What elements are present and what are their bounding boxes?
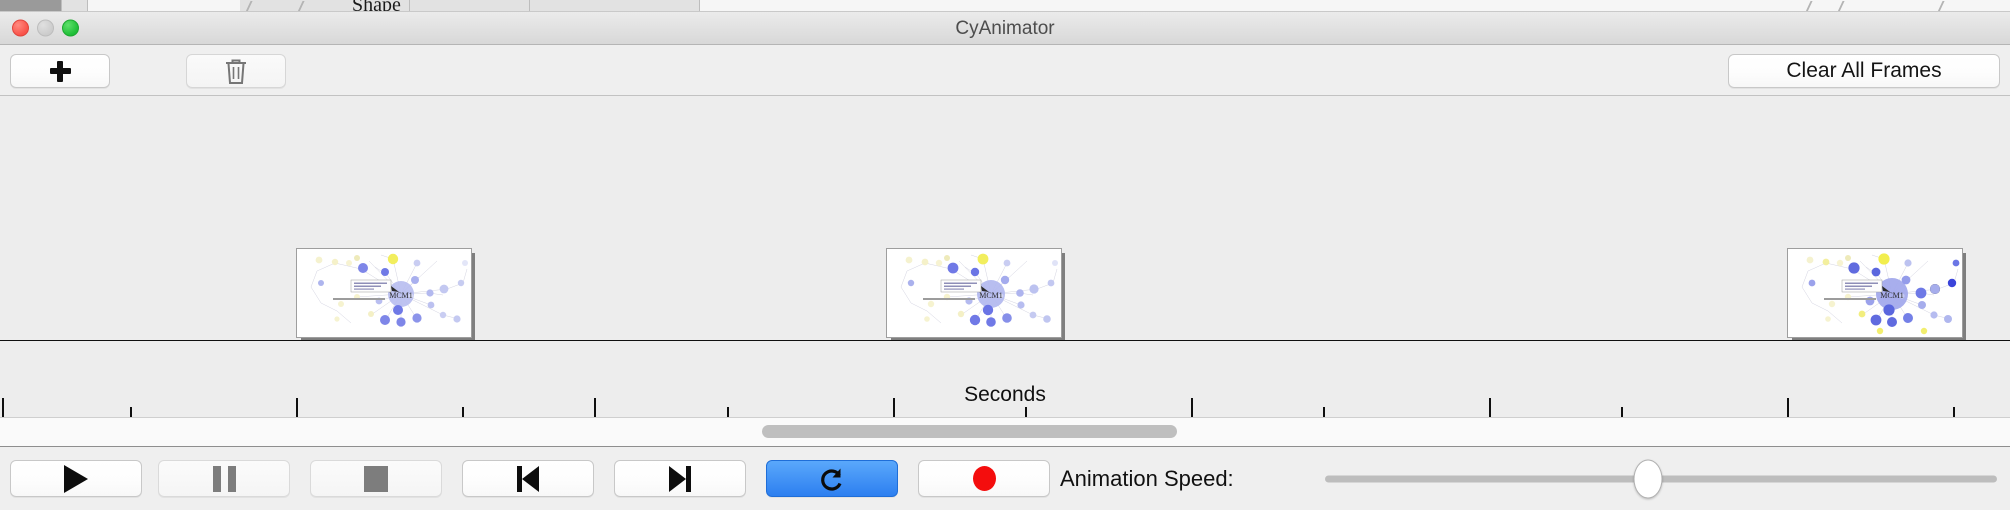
clear-all-frames-label: Clear All Frames	[1786, 59, 1941, 83]
title-bar: CyAnimator	[0, 12, 2010, 45]
playback-control-bar: Animation Speed:	[0, 447, 2010, 510]
bg-slash-icon	[297, 1, 328, 12]
axis-tick	[727, 407, 729, 417]
window-title: CyAnimator	[0, 12, 2010, 45]
timeline-axis	[0, 340, 2010, 341]
clear-all-frames-button[interactable]: Clear All Frames	[1728, 54, 2000, 88]
frame-thumbnail[interactable]: MCM1	[886, 248, 1062, 338]
axis-tick	[1621, 407, 1623, 417]
pause-button[interactable]	[158, 460, 290, 497]
bg-tab	[0, 0, 62, 12]
axis-tick	[130, 407, 132, 417]
svg-text:MCM1: MCM1	[389, 291, 413, 300]
axis-tick	[1025, 407, 1027, 417]
background-window-strip: Shape	[0, 0, 2010, 12]
network-graph-thumbnail: MCM1	[887, 249, 1062, 338]
record-icon	[973, 466, 996, 491]
slider-thumb[interactable]	[1633, 459, 1662, 498]
play-button[interactable]	[10, 460, 142, 497]
timeline-panel[interactable]: MCM1	[0, 96, 2010, 418]
bg-tab	[530, 0, 700, 12]
add-frame-button[interactable]	[10, 54, 110, 88]
timeline-scrollbar-thumb[interactable]	[762, 425, 1177, 438]
bg-window-label: Shape	[352, 0, 401, 12]
bg-slash-icon	[245, 1, 276, 12]
bg-slash-icon	[1805, 1, 1836, 12]
bg-slash-icon	[1837, 1, 1868, 12]
network-graph-thumbnail: MCM1	[297, 249, 472, 338]
bg-slash-icon	[1937, 1, 1968, 12]
axis-title: Seconds	[0, 383, 2010, 407]
loop-icon	[817, 464, 847, 494]
play-icon	[64, 465, 88, 493]
cyanimator-window: CyAnimator Clear All Frames	[0, 12, 2010, 510]
bg-tab	[410, 0, 530, 12]
axis-tick	[1323, 407, 1325, 417]
loop-button[interactable]	[766, 460, 898, 497]
stop-button[interactable]	[310, 460, 442, 497]
skip-forward-icon	[669, 466, 691, 492]
axis-tick	[462, 407, 464, 417]
plus-icon	[50, 61, 71, 82]
animation-speed-label: Animation Speed:	[1060, 447, 1234, 510]
frame-thumbnail[interactable]: MCM1	[1787, 248, 1963, 338]
pause-icon	[213, 466, 236, 492]
timeline-scrollbar[interactable]	[0, 418, 2010, 447]
svg-text:MCM1: MCM1	[979, 291, 1003, 300]
toolbar: Clear All Frames	[0, 45, 2010, 96]
animation-speed-slider[interactable]	[1325, 447, 1997, 510]
axis-tick	[1953, 407, 1955, 417]
trash-icon	[224, 58, 248, 85]
svg-text:MCM1: MCM1	[1880, 291, 1904, 300]
record-button[interactable]	[918, 460, 1050, 497]
stop-icon	[364, 466, 388, 492]
skip-forward-button[interactable]	[614, 460, 746, 497]
frame-thumbnail[interactable]: MCM1	[296, 248, 472, 338]
delete-frame-button[interactable]	[186, 54, 286, 88]
skip-back-button[interactable]	[462, 460, 594, 497]
bg-tab	[62, 0, 88, 12]
skip-back-icon	[517, 466, 539, 492]
network-graph-thumbnail: MCM1	[1788, 249, 1963, 338]
